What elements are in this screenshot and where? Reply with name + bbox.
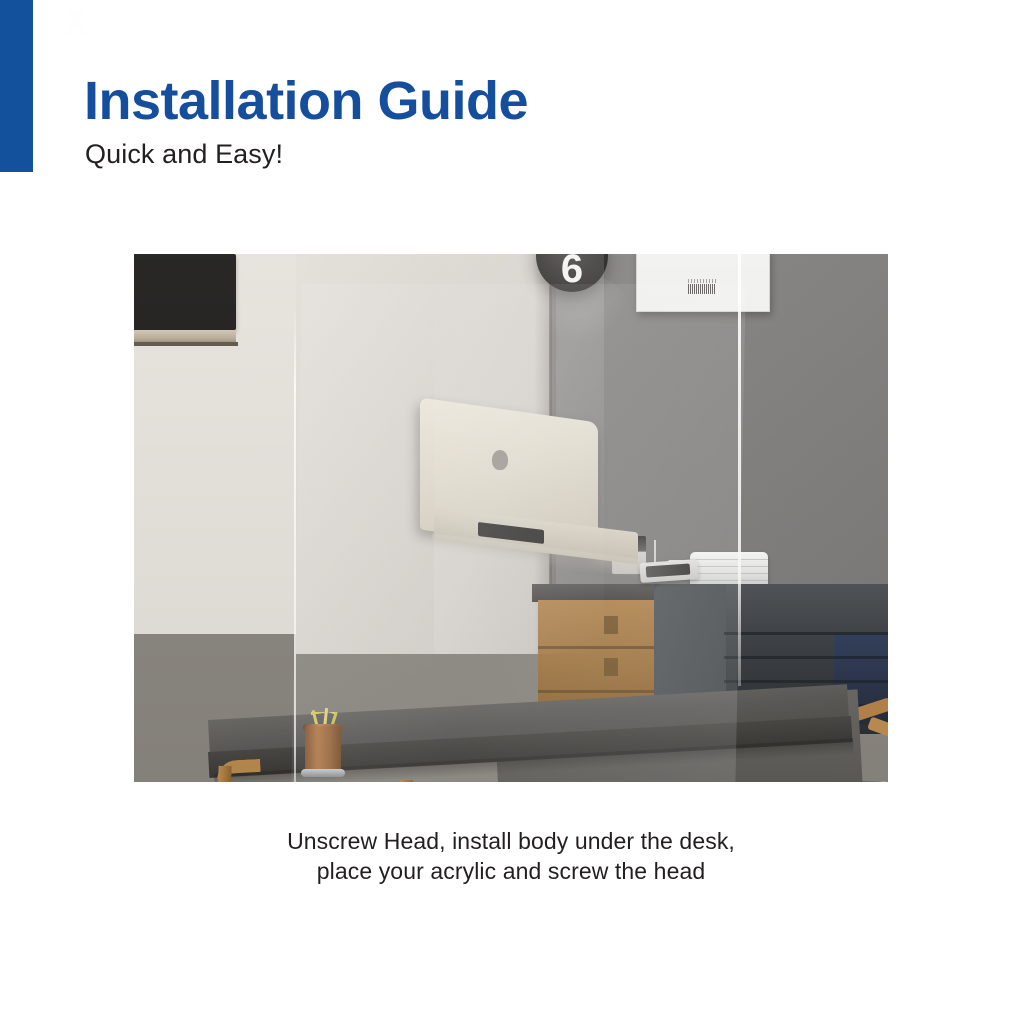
caption-line-2: place your acrylic and screw the head (134, 856, 888, 886)
couch-seam-2 (724, 656, 888, 659)
acrylic-sheen (434, 254, 604, 654)
acrylic-right-edge (738, 254, 741, 686)
couch-seam-3 (724, 680, 888, 683)
page-title: Installation Guide (84, 74, 528, 128)
tv-shelf-edge (134, 342, 238, 346)
photo-caption: Unscrew Head, install body under the des… (134, 826, 888, 886)
watermark-mark (44, 2, 108, 36)
installation-guide-page: Installation Guide Quick and Easy! 6 (0, 0, 1023, 1024)
left-accent-bar (0, 0, 33, 172)
caption-line-1: Unscrew Head, install body under the des… (134, 826, 888, 856)
installation-photo: 6 (134, 254, 888, 782)
page-subtitle: Quick and Easy! (85, 141, 283, 168)
desk-leg-left (215, 766, 231, 782)
couch-seam-1 (724, 632, 888, 635)
whiteboard-logo-cap (688, 279, 716, 283)
acrylic-left-edge (294, 306, 296, 782)
wall-mounted-tv (134, 254, 236, 330)
